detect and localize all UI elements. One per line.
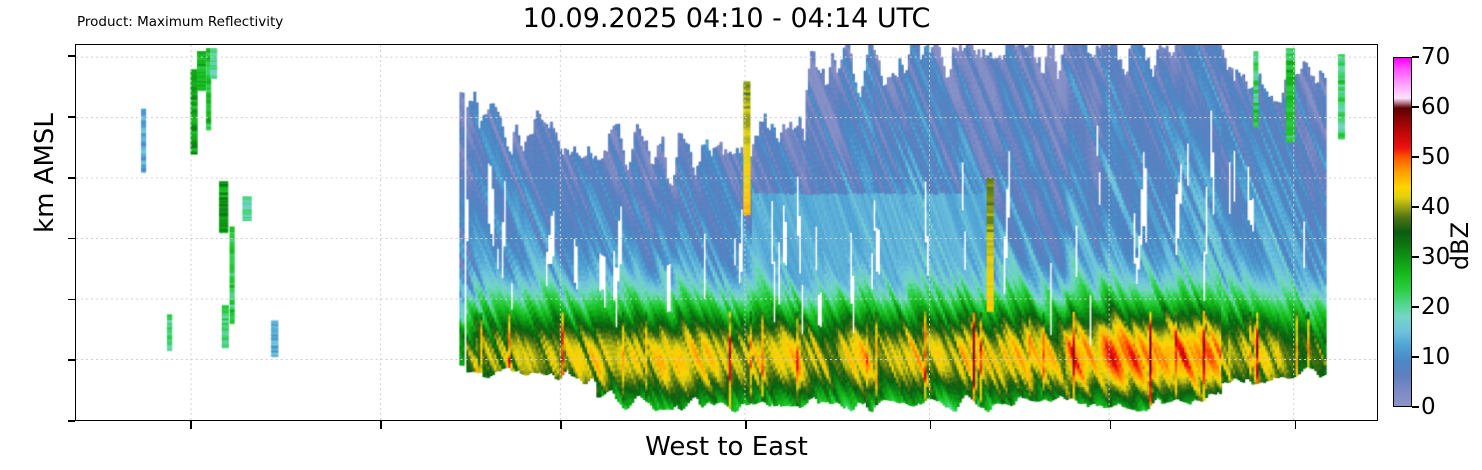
colorbar-tick-label-70: 70 [1421,44,1450,70]
x-tick-mark [1110,421,1112,429]
colorbar [1393,57,1412,407]
x-tick-mark [190,421,192,429]
y-tick-mark [68,55,75,57]
colorbar-tick-mark [1412,106,1419,107]
colorbar-gradient [1394,58,1411,406]
x-axis-label: West to East [75,432,1378,462]
plot-area [75,44,1378,421]
colorbar-tick-label-10: 10 [1421,344,1450,370]
colorbar-tick-mark [1412,306,1419,307]
colorbar-tick-mark [1412,406,1419,407]
x-tick-mark [745,421,747,429]
colorbar-tick-mark [1412,206,1419,207]
y-tick-mark [68,299,75,301]
page-title: 10.09.2025 04:10 - 04:14 UTC [75,4,1378,34]
y-tick-mark [68,116,75,118]
colorbar-tick-label-0: 0 [1421,394,1436,420]
colorbar-tick-mark [1412,256,1419,257]
y-tick-mark [68,238,75,240]
colorbar-tick-label-60: 60 [1421,94,1450,120]
colorbar-tick-label-50: 50 [1421,144,1450,170]
colorbar-label: dBZ [1446,181,1474,311]
colorbar-tick-mark [1412,56,1419,57]
radar-cross-section-figure: Product: Maximum Reflectivity 10.09.2025… [0,0,1482,470]
y-tick-mark [68,177,75,179]
x-tick-mark [930,421,932,429]
y-tick-mark [68,420,75,422]
radar-reflectivity-heatmap [76,45,1377,420]
x-tick-mark [380,421,382,429]
y-axis-label: km AMSL [30,43,60,303]
x-tick-mark [1295,421,1297,429]
colorbar-tick-mark [1412,356,1419,357]
colorbar-tick-mark [1412,156,1419,157]
x-tick-mark [560,421,562,429]
y-tick-mark [68,359,75,361]
